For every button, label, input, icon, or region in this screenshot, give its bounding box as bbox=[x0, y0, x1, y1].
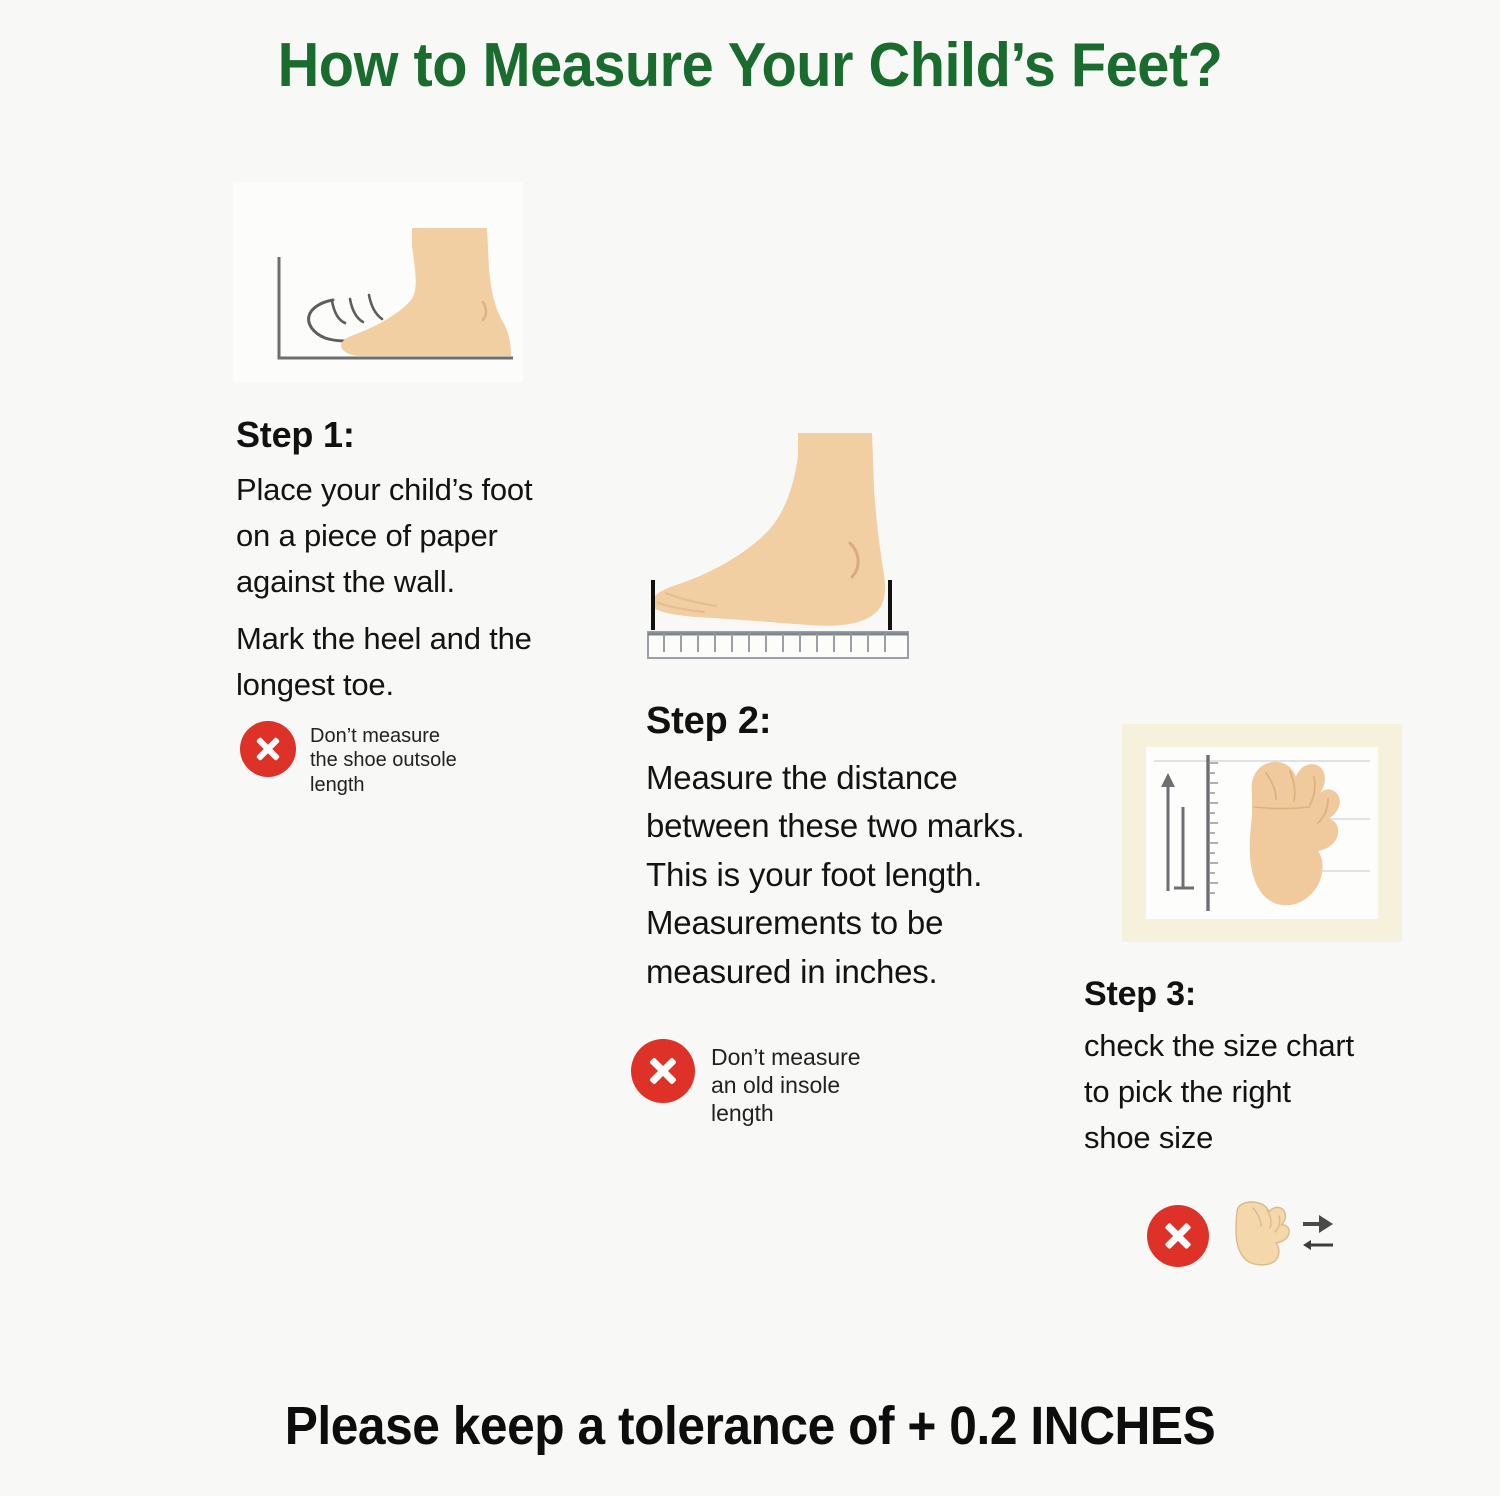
step-1-warning-line-3: length bbox=[310, 773, 457, 797]
step-3-body: check the size chart to pick the right s… bbox=[1084, 1023, 1424, 1161]
step-1-body: Place your child’s foot on a piece of pa… bbox=[236, 467, 566, 707]
step-1-warning-line-1: Don’t measure bbox=[310, 724, 457, 748]
page-title: How to Measure Your Child’s Feet? bbox=[53, 30, 1448, 101]
step-3-heading: Step 3: bbox=[1084, 975, 1424, 1014]
step-1-line-5: longest toe. bbox=[236, 662, 566, 708]
step-3-warning-figure bbox=[1227, 1198, 1339, 1273]
step-3-line-3: shoe size bbox=[1084, 1115, 1424, 1161]
step-2-warning-text: Don’t measure an old insole length bbox=[711, 1043, 861, 1127]
step-2-line-1: Measure the distance bbox=[646, 754, 1086, 803]
step-2-warning-line-1: Don’t measure bbox=[711, 1043, 861, 1071]
step-2-body: Measure the distance between these two m… bbox=[646, 754, 1086, 997]
foot-sole-chart-icon bbox=[1146, 747, 1378, 919]
step-1-line-1: Place your child’s foot bbox=[236, 467, 566, 513]
red-x-circle-icon bbox=[1147, 1205, 1209, 1267]
step-1-text-block: Step 1: Place your child’s foot on a pie… bbox=[236, 414, 566, 707]
step-3-chart-panel bbox=[1146, 747, 1378, 919]
infographic-page: How to Measure Your Child’s Feet? Step 1… bbox=[0, 0, 1500, 1496]
tolerance-note: Please keep a tolerance of + 0.2 INCHES bbox=[60, 1395, 1440, 1457]
step-1-warning-line-2: the shoe outsole bbox=[310, 748, 457, 772]
foot-against-wall-icon bbox=[233, 182, 523, 382]
step-1-line-2: on a piece of paper bbox=[236, 513, 566, 559]
red-x-circle-icon: #page .warn-circle[data-size="56"]::befo… bbox=[240, 721, 296, 777]
step-3-text-block: Step 3: check the size chart to pick the… bbox=[1084, 975, 1424, 1161]
step-2-illustration bbox=[640, 425, 940, 665]
step-1-warning: #page .warn-circle[data-size="56"]::befo… bbox=[240, 721, 457, 797]
step-2-text-block: Step 2: Measure the distance between the… bbox=[646, 700, 1086, 996]
step-1-line-3: against the wall. bbox=[236, 559, 566, 605]
step-1-line-4: Mark the heel and the bbox=[236, 616, 566, 662]
step-3-illustration bbox=[1122, 724, 1402, 942]
step-2-line-3: This is your foot length. bbox=[646, 851, 1086, 900]
step-1-illustration bbox=[233, 182, 523, 382]
step-2-warning: Don’t measure an old insole length bbox=[631, 1039, 861, 1127]
step-2-warning-line-2: an old insole bbox=[711, 1071, 861, 1099]
foot-with-arrows-icon bbox=[1227, 1198, 1339, 1268]
step-2-line-2: between these two marks. bbox=[646, 802, 1086, 851]
red-x-circle-icon bbox=[631, 1039, 695, 1103]
step-3-warning bbox=[1147, 1198, 1339, 1273]
step-2-heading: Step 2: bbox=[646, 700, 1086, 744]
step-3-line-1: check the size chart bbox=[1084, 1023, 1424, 1069]
step-1-warning-text: Don’t measure the shoe outsole length bbox=[310, 724, 457, 797]
step-1-heading: Step 1: bbox=[236, 414, 566, 455]
step-3-line-2: to pick the right bbox=[1084, 1069, 1424, 1115]
step-2-warning-line-3: length bbox=[711, 1099, 861, 1127]
step-2-line-4: Measurements to be bbox=[646, 899, 1086, 948]
foot-on-ruler-icon bbox=[640, 425, 940, 665]
step-2-line-5: measured in inches. bbox=[646, 948, 1086, 997]
